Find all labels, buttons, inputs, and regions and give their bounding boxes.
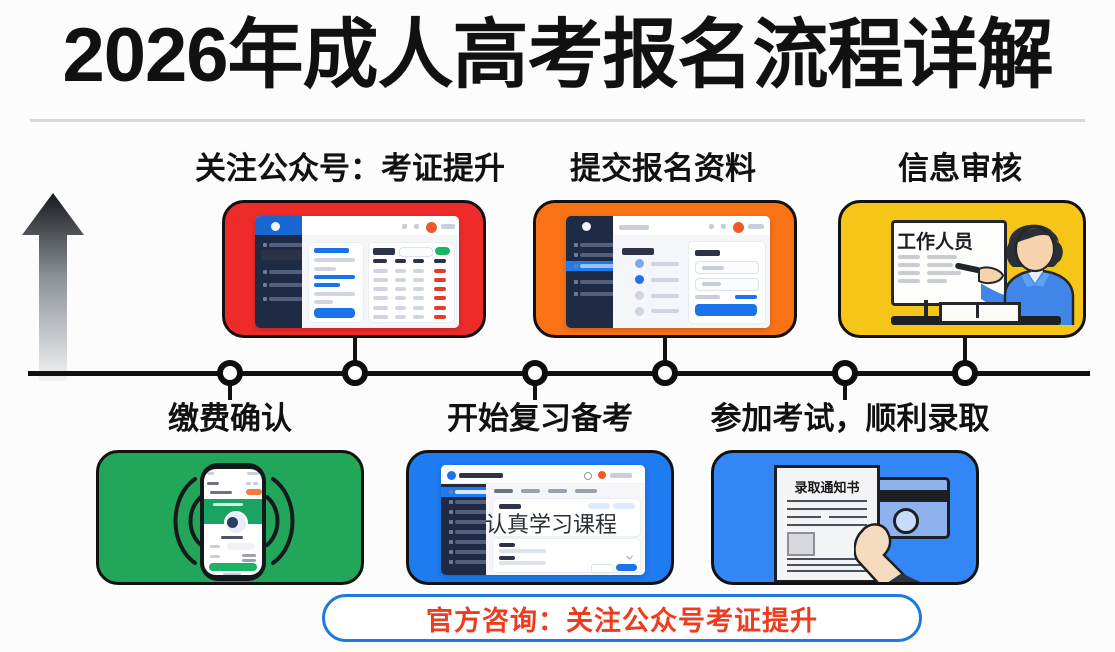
- user-name: [610, 473, 632, 478]
- signal-arcs-left: [143, 473, 203, 569]
- content-area: [613, 235, 770, 328]
- step-label-3: 信息审核: [865, 150, 1055, 188]
- timeline-dot-1[interactable]: [217, 360, 243, 386]
- topbar-icon[interactable]: [402, 224, 407, 229]
- option-icon: [635, 259, 644, 268]
- phone-device: [200, 463, 266, 581]
- content-area: [302, 235, 459, 328]
- nav-bullet: [449, 520, 453, 524]
- app-nav-icon[interactable]: [246, 482, 251, 485]
- timeline-dot-4[interactable]: [652, 360, 678, 386]
- nav-bullet: [449, 530, 453, 534]
- table-header-cell: [434, 259, 447, 263]
- phone-screen: [204, 469, 262, 575]
- tab-item[interactable]: [575, 489, 597, 493]
- search-icon[interactable]: [584, 472, 592, 480]
- sign-text-line: [898, 279, 920, 283]
- tab-item[interactable]: [548, 489, 567, 493]
- official-account-name: [210, 491, 232, 494]
- screen-mock-1: [255, 216, 459, 328]
- nav-bullet: [263, 283, 267, 287]
- sign-text-line: [898, 271, 920, 275]
- nav-bullet: [263, 297, 267, 301]
- card-magnetic-strip: [869, 490, 947, 502]
- table-row-status: [434, 306, 447, 310]
- avatar[interactable]: [426, 222, 437, 233]
- field-value: [242, 559, 256, 562]
- nav-bullet: [449, 550, 453, 554]
- open-book: [939, 302, 1021, 324]
- up-arrow-icon: [22, 193, 84, 381]
- tab-item[interactable]: [494, 489, 513, 493]
- step-card-4[interactable]: [96, 450, 364, 585]
- option-icon-selected: [635, 275, 644, 284]
- avatar-face: [227, 517, 238, 528]
- timeline-dot-5[interactable]: [832, 360, 858, 386]
- table-row[interactable]: [395, 315, 406, 319]
- brand-logo-icon: [271, 222, 280, 231]
- cancel-button[interactable]: [591, 564, 614, 573]
- nav-bullet: [449, 510, 453, 514]
- breadcrumb: [619, 225, 649, 230]
- table-row[interactable]: [413, 269, 424, 273]
- table-row-status: [434, 278, 447, 282]
- filter-submit-button[interactable]: [314, 308, 355, 317]
- step-label-6: 参加考试，顺利录取: [690, 400, 1010, 438]
- account-placeholder: [702, 266, 724, 270]
- field-label: [210, 545, 220, 548]
- sign-text-line: [927, 263, 953, 267]
- connector-stem-4: [228, 384, 232, 400]
- connector-stem-6: [843, 384, 847, 400]
- poster-root: 2026年成人高考报名流程详解 关注公众号：考证提升 提交报名资料 信息审核: [0, 0, 1115, 652]
- option-icon: [635, 291, 644, 300]
- status-bar-icons: [247, 472, 259, 475]
- avatar[interactable]: [733, 222, 744, 233]
- sign-text-line: [898, 263, 920, 267]
- table-row[interactable]: [413, 296, 424, 300]
- confirm-button[interactable]: [616, 564, 637, 571]
- brand-logo-icon: [582, 222, 591, 231]
- lesson-meta: [499, 549, 547, 553]
- banner-text: [213, 503, 243, 506]
- table-row[interactable]: [413, 278, 424, 282]
- table-header-cell: [395, 259, 406, 263]
- field-value: [242, 554, 256, 557]
- user-name: [441, 224, 455, 229]
- table-row[interactable]: [373, 287, 389, 291]
- chevron-down-icon[interactable]: [626, 547, 633, 552]
- user-name: [748, 224, 764, 229]
- nav-bullet: [449, 540, 453, 544]
- table-row[interactable]: [373, 269, 389, 273]
- user-name: [221, 536, 243, 539]
- letter-line: [787, 516, 821, 518]
- nav-bullet: [449, 560, 453, 564]
- filter-row: [314, 292, 355, 296]
- nav-bullet: [574, 243, 578, 247]
- filter-row: [314, 300, 333, 304]
- nav-bullet: [574, 280, 578, 284]
- nav-bullet: [263, 243, 267, 247]
- cta-banner[interactable]: 官方咨询：关注公众号考证提升: [322, 594, 922, 642]
- helper-link[interactable]: [735, 295, 757, 299]
- pay-button[interactable]: [209, 563, 258, 570]
- sign-text-line: [927, 279, 947, 283]
- status-bar-time: [207, 472, 214, 475]
- table-row-status: [434, 269, 447, 273]
- step-label-2: 提交报名资料: [543, 150, 783, 188]
- table-row[interactable]: [373, 306, 389, 310]
- field-label: [210, 555, 220, 558]
- screen-mock-2: [566, 216, 770, 328]
- step-label-5: 开始复习备考: [420, 400, 660, 438]
- filter-row: [314, 258, 355, 262]
- footer-note: [223, 573, 241, 575]
- step-card-1[interactable]: [222, 200, 486, 338]
- table-row[interactable]: [395, 278, 406, 282]
- step-card-2[interactable]: [533, 200, 797, 338]
- topbar-icon[interactable]: [709, 224, 714, 229]
- letter-line: [787, 500, 867, 502]
- amount-field[interactable]: [227, 543, 255, 549]
- hand-holding-letter: [854, 515, 944, 585]
- option-label[interactable]: [651, 309, 679, 313]
- timeline-dot-6[interactable]: [952, 360, 978, 386]
- letter-line: [787, 508, 867, 510]
- table-row[interactable]: [373, 278, 389, 282]
- table-row-status: [434, 296, 447, 300]
- nav-bullet: [449, 490, 453, 494]
- lesson-title: [499, 543, 515, 547]
- sidebar: [255, 235, 302, 328]
- filter-row: [314, 283, 339, 287]
- staff-hand-pen: [953, 259, 1009, 287]
- topbar-icon[interactable]: [414, 224, 419, 229]
- step-label-1: 关注公众号：考证提升: [175, 150, 525, 188]
- timeline-dot-3[interactable]: [522, 360, 548, 386]
- lesson-meta: [499, 561, 547, 565]
- nav-bullet: [574, 292, 578, 296]
- avatar[interactable]: [598, 471, 606, 479]
- submit-button[interactable]: [695, 304, 758, 316]
- table-row[interactable]: [413, 315, 424, 319]
- filter-heading: [314, 248, 349, 253]
- nav-bullet: [574, 264, 578, 268]
- table-row[interactable]: [395, 306, 406, 310]
- table-row[interactable]: [373, 315, 389, 319]
- password-placeholder: [702, 282, 721, 286]
- section-title: [622, 248, 653, 255]
- timeline-axis: [28, 371, 1090, 376]
- page-title: 2026年成人高考报名流程详解: [0, 10, 1115, 102]
- brand-name: [459, 473, 503, 478]
- option-icon: [635, 307, 644, 316]
- app-nav-icon[interactable]: [253, 482, 258, 485]
- course-overlay-text: 认真学习课程: [485, 507, 617, 539]
- admission-letter-title: 录取通知书: [785, 477, 869, 496]
- app-nav-label: [207, 482, 219, 485]
- option-label[interactable]: [651, 294, 679, 298]
- connector-stem-5: [533, 384, 537, 400]
- table-row[interactable]: [395, 296, 406, 300]
- table-header-cell: [373, 259, 387, 263]
- export-button[interactable]: [435, 247, 449, 254]
- table-row-status: [434, 287, 447, 291]
- timeline-dot-2[interactable]: [342, 360, 368, 386]
- book-spine: [976, 302, 979, 318]
- brand-logo-icon: [447, 471, 456, 480]
- table-header-cell: [413, 259, 424, 263]
- nav-bullet: [263, 270, 267, 274]
- option-label[interactable]: [651, 262, 679, 266]
- tab-item[interactable]: [521, 489, 540, 493]
- table-row[interactable]: [373, 296, 389, 300]
- signal-arcs-right: [265, 473, 325, 569]
- filter-row: [314, 267, 336, 271]
- topbar-icon[interactable]: [721, 224, 726, 229]
- table-row[interactable]: [413, 287, 424, 291]
- helper-text: [695, 295, 720, 299]
- letter-stamp-box: [787, 532, 815, 556]
- follow-button[interactable]: [246, 489, 262, 495]
- search-input[interactable]: [399, 247, 432, 256]
- sign-text-line: [898, 255, 920, 259]
- table-row-status: [434, 315, 447, 319]
- table-row[interactable]: [395, 269, 406, 273]
- title-divider: [30, 119, 1085, 122]
- table-title: [373, 248, 395, 255]
- filter-row: [314, 275, 355, 279]
- cta-text: 官方咨询：关注公众号考证提升: [426, 599, 818, 638]
- nav-bullet: [449, 500, 453, 504]
- lesson-title: [499, 556, 515, 560]
- step-card-3[interactable]: 工作人员: [838, 200, 1086, 338]
- table-row[interactable]: [395, 287, 406, 291]
- step-card-5[interactable]: 认真学习课程: [406, 450, 674, 585]
- table-row[interactable]: [413, 306, 424, 310]
- step-label-4: 缴费确认: [130, 400, 330, 438]
- nav-bullet: [574, 253, 578, 257]
- form-title: [695, 250, 720, 256]
- option-label[interactable]: [651, 278, 679, 282]
- step-card-6[interactable]: 录取通知书: [711, 450, 979, 585]
